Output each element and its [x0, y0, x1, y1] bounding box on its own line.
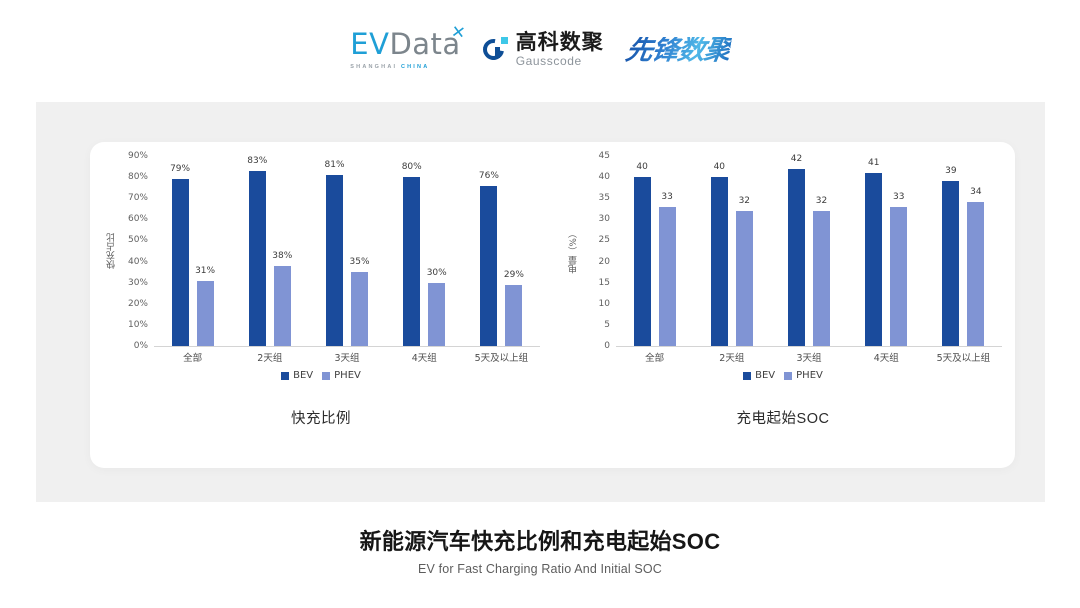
y-tick-label: 0: [604, 341, 610, 351]
y-tick-label: 80%: [128, 172, 148, 182]
x-tick-label: 3天组: [770, 350, 847, 368]
bar-phev[interactable]: 35%: [351, 272, 368, 346]
y-tick-label: 40%: [128, 257, 148, 267]
evdata-wordmark: EVData ✕: [350, 30, 460, 59]
legend-swatch: [743, 372, 751, 380]
bar-phev[interactable]: 31%: [197, 281, 214, 346]
logo-gausscode: 高科数聚 Gausscode: [483, 32, 604, 68]
bar-group: 3934: [925, 156, 1002, 346]
bar-value-label: 40: [714, 162, 725, 172]
bar-phev[interactable]: 32: [813, 211, 830, 346]
logo-bar: EVData ✕ SHANGHAI CHINA 高科数聚 Gausscode 先…: [0, 22, 1080, 78]
gausscode-wordmark: 高科数聚 Gausscode: [516, 32, 604, 68]
bar-phev[interactable]: 34: [967, 202, 984, 346]
bar-phev[interactable]: 29%: [505, 285, 522, 346]
bar-bev[interactable]: 39: [942, 181, 959, 346]
charts-card: 快充占比 0%10%20%30%40%50%60%70%80%90% 79%31…: [90, 142, 1015, 468]
bar-group: 4032: [693, 156, 770, 346]
bar-value-label: 33: [661, 192, 672, 202]
x-tick-label: 3天组: [308, 350, 385, 368]
bar-bev[interactable]: 42: [788, 169, 805, 346]
bar-bev[interactable]: 76%: [480, 186, 497, 346]
x-tick-label: 2天组: [693, 350, 770, 368]
bar-group: 83%38%: [231, 156, 308, 346]
bars-container-right: 40334032423241333934: [616, 156, 1002, 347]
xianfeng-wordmark: 先锋数聚: [624, 37, 732, 64]
y-tick-label: 90%: [128, 151, 148, 161]
gausscode-name-cn: 高科数聚: [516, 32, 604, 54]
legend-label: BEV: [755, 370, 775, 381]
bar-group: 79%31%: [154, 156, 231, 346]
y-tick-label: 30%: [128, 278, 148, 288]
footer: 新能源汽车快充比例和充电起始SOC EV for Fast Charging R…: [0, 528, 1080, 576]
bar-bev[interactable]: 83%: [249, 171, 266, 346]
legend-swatch: [784, 372, 792, 380]
bar-group: 4232: [770, 156, 847, 346]
y-tick-label: 40: [599, 172, 610, 182]
bar-bev[interactable]: 79%: [172, 179, 189, 346]
bar-value-label: 41: [868, 158, 879, 168]
y-tick-label: 10: [599, 299, 610, 309]
bar-phev[interactable]: 33: [659, 207, 676, 346]
bar-value-label: 32: [739, 196, 750, 206]
legend-label: BEV: [293, 370, 313, 381]
y-tick-label: 30: [599, 214, 610, 224]
bar-value-label: 42: [791, 154, 802, 164]
chart-caption-left: 快充比例: [90, 407, 552, 428]
bar-phev[interactable]: 30%: [428, 283, 445, 346]
y-tick-label: 70%: [128, 193, 148, 203]
y-tick-label: 50%: [128, 235, 148, 245]
gausscode-bar-shape: [495, 47, 500, 58]
bar-value-label: 34: [970, 187, 981, 197]
x-axis-ticks-right: 全部2天组3天组4天组5天及以上组: [616, 350, 1002, 368]
legend-right: BEVPHEV: [552, 370, 1014, 381]
chart-fast-charging-ratio: 快充占比 0%10%20%30%40%50%60%70%80%90% 79%31…: [90, 142, 552, 468]
logo-evdata: EVData ✕ SHANGHAI CHINA: [350, 30, 460, 70]
x-axis-ticks-left: 全部2天组3天组4天组5天及以上组: [154, 350, 540, 368]
y-tick-label: 20%: [128, 299, 148, 309]
legend-swatch: [322, 372, 330, 380]
bar-value-label: 30%: [427, 268, 447, 278]
y-tick-label: 25: [599, 235, 610, 245]
bar-bev[interactable]: 80%: [403, 177, 420, 346]
y-tick-label: 60%: [128, 214, 148, 224]
y-axis-ticks-right: 051015202530354045: [578, 156, 614, 346]
gausscode-square-shape: [501, 37, 508, 44]
bar-group: 4033: [616, 156, 693, 346]
legend-label: PHEV: [796, 370, 823, 381]
bar-value-label: 33: [893, 192, 904, 202]
chart-caption-right: 充电起始SOC: [552, 407, 1014, 428]
evdata-tagline-city: SHANGHAI: [350, 64, 401, 70]
cross-icon: ✕: [450, 24, 467, 43]
bar-value-label: 79%: [170, 164, 190, 174]
y-tick-label: 35: [599, 193, 610, 203]
y-tick-label: 45: [599, 151, 610, 161]
legend-item-bev[interactable]: BEV: [743, 370, 775, 381]
evdata-letter-e: E: [350, 30, 369, 59]
page-title: 新能源汽车快充比例和充电起始SOC: [0, 528, 1080, 557]
bar-value-label: 38%: [272, 251, 292, 261]
y-tick-label: 0%: [134, 341, 148, 351]
logo-xianfeng: 先锋数聚: [626, 37, 730, 64]
evdata-tagline-country: CHINA: [401, 64, 429, 70]
legend-item-bev[interactable]: BEV: [281, 370, 313, 381]
bar-value-label: 80%: [402, 162, 422, 172]
bar-phev[interactable]: 38%: [274, 266, 291, 346]
bar-value-label: 81%: [324, 160, 344, 170]
legend-swatch: [281, 372, 289, 380]
bar-value-label: 35%: [349, 257, 369, 267]
bars-container-left: 79%31%83%38%81%35%80%30%76%29%: [154, 156, 540, 347]
evdata-tagline: SHANGHAI CHINA: [350, 64, 429, 70]
legend-label: PHEV: [334, 370, 361, 381]
y-tick-label: 20: [599, 257, 610, 267]
plot-area-right: 电量（%） 051015202530354045 403340324232413…: [552, 156, 1014, 368]
bar-value-label: 76%: [479, 171, 499, 181]
bar-bev[interactable]: 40: [634, 177, 651, 346]
bar-group: 76%29%: [463, 156, 540, 346]
bar-value-label: 40: [636, 162, 647, 172]
legend-item-phev[interactable]: PHEV: [322, 370, 361, 381]
y-axis-ticks-left: 0%10%20%30%40%50%60%70%80%90%: [116, 156, 152, 346]
charts-row: 快充占比 0%10%20%30%40%50%60%70%80%90% 79%31…: [90, 142, 1015, 468]
x-tick-label: 5天及以上组: [925, 350, 1002, 368]
gausscode-mark-icon: [483, 37, 509, 63]
chart-initial-soc: 电量（%） 051015202530354045 403340324232413…: [552, 142, 1014, 468]
x-tick-label: 4天组: [848, 350, 925, 368]
bar-bev[interactable]: 81%: [326, 175, 343, 346]
bar-value-label: 83%: [247, 156, 267, 166]
bar-phev[interactable]: 32: [736, 211, 753, 346]
legend-item-phev[interactable]: PHEV: [784, 370, 823, 381]
bar-group: 4133: [848, 156, 925, 346]
bar-bev[interactable]: 40: [711, 177, 728, 346]
bar-value-label: 31%: [195, 266, 215, 276]
plot-area-left: 快充占比 0%10%20%30%40%50%60%70%80%90% 79%31…: [90, 156, 552, 368]
bar-group: 80%30%: [386, 156, 463, 346]
bar-value-label: 32: [816, 196, 827, 206]
page-subtitle: EV for Fast Charging Ratio And Initial S…: [0, 562, 1080, 576]
y-tick-label: 10%: [128, 320, 148, 330]
bar-bev[interactable]: 41: [865, 173, 882, 346]
x-tick-label: 4天组: [386, 350, 463, 368]
gausscode-name-en: Gausscode: [516, 55, 604, 68]
bar-value-label: 39: [945, 166, 956, 176]
bar-value-label: 29%: [504, 270, 524, 280]
x-tick-label: 全部: [616, 350, 693, 368]
y-tick-label: 15: [599, 278, 610, 288]
x-tick-label: 5天及以上组: [463, 350, 540, 368]
y-tick-label: 5: [604, 320, 610, 330]
evdata-letter-v: V: [369, 30, 389, 59]
x-tick-label: 2天组: [231, 350, 308, 368]
x-tick-label: 全部: [154, 350, 231, 368]
bar-phev[interactable]: 33: [890, 207, 907, 346]
bar-group: 81%35%: [308, 156, 385, 346]
legend-left: BEVPHEV: [90, 370, 552, 381]
